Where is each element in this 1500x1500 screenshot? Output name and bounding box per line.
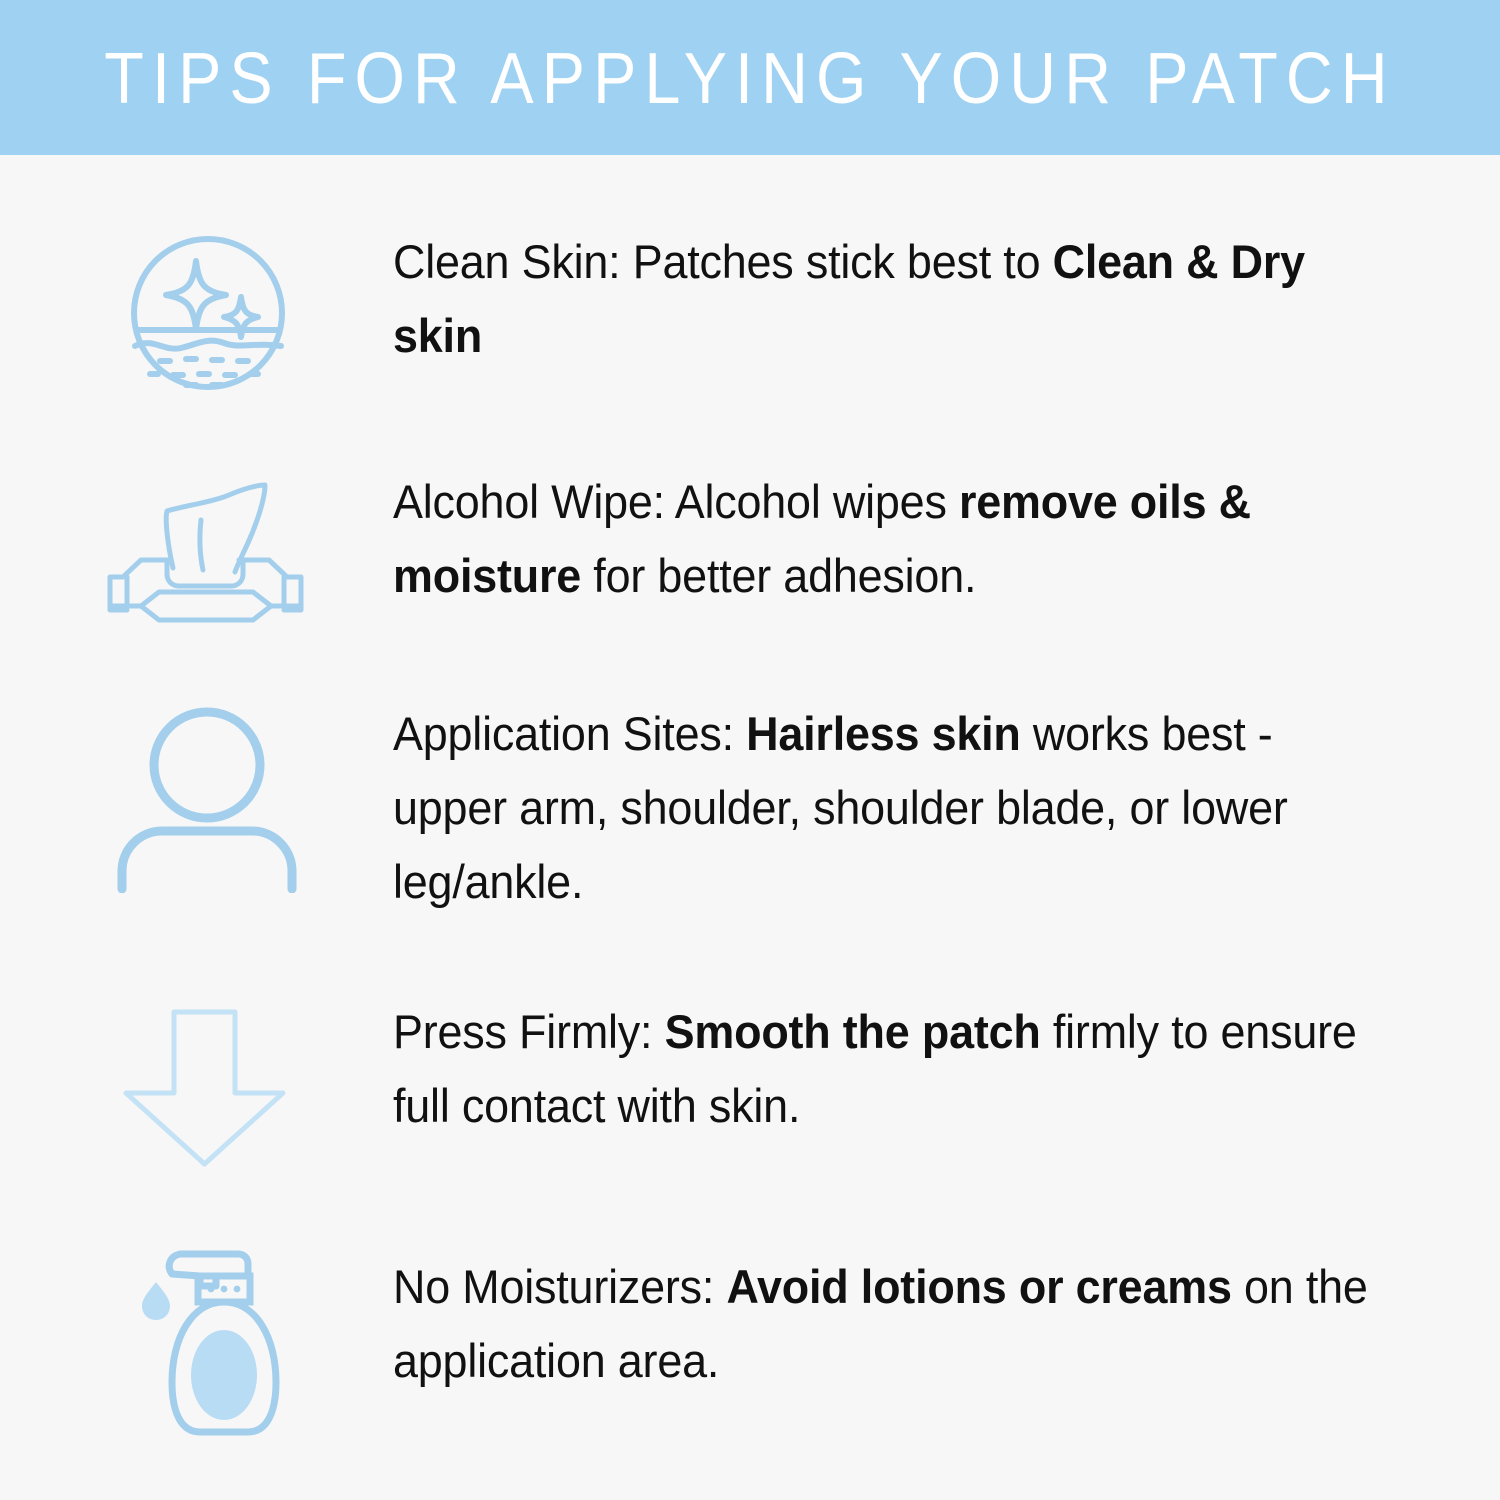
tip-text: No Moisturizers: Avoid lotions or creams…	[393, 1250, 1377, 1398]
tip-emphasis: Hairless skin	[746, 707, 1020, 760]
tip-lead: Press Firmly:	[393, 1005, 665, 1058]
application-sites-icon	[112, 703, 302, 898]
tip-lead: Alcohol Wipe: Alcohol wipes	[393, 475, 959, 528]
tip-lead: Application Sites:	[393, 707, 746, 760]
clean-skin-icon	[128, 233, 288, 398]
tip-lead: Clean Skin: Patches stick best to	[393, 235, 1053, 288]
page-title: TIPS FOR APPLYING YOUR PATCH	[75, 40, 1425, 118]
tip-emphasis: Avoid lotions or creams	[726, 1260, 1231, 1313]
tip-row: Press Firmly: Smooth the patch firmly to…	[0, 995, 1500, 1245]
tip-row: Clean Skin: Patches stick best to Clean …	[0, 225, 1500, 485]
header-band: TIPS FOR APPLYING YOUR PATCH	[0, 0, 1500, 155]
tip-row: Application Sites: Hairless skin works b…	[0, 695, 1500, 995]
no-moisturizers-icon	[130, 1242, 290, 1447]
alcohol-wipe-icon	[105, 480, 320, 630]
tip-tail: for better adhesion.	[581, 549, 976, 602]
tip-text: Application Sites: Hairless skin works b…	[393, 697, 1377, 919]
tip-text: Clean Skin: Patches stick best to Clean …	[393, 225, 1377, 373]
tip-text: Alcohol Wipe: Alcohol wipes remove oils …	[393, 465, 1377, 613]
tip-text: Press Firmly: Smooth the patch firmly to…	[393, 995, 1377, 1143]
tip-lead: No Moisturizers:	[393, 1260, 726, 1313]
infographic-page: TIPS FOR APPLYING YOUR PATCH	[0, 0, 1500, 1500]
tip-emphasis: Smooth the patch	[665, 1005, 1041, 1058]
tip-row: Alcohol Wipe: Alcohol wipes remove oils …	[0, 460, 1500, 690]
press-firmly-icon	[122, 1008, 287, 1173]
tip-row: No Moisturizers: Avoid lotions or creams…	[0, 1240, 1500, 1500]
